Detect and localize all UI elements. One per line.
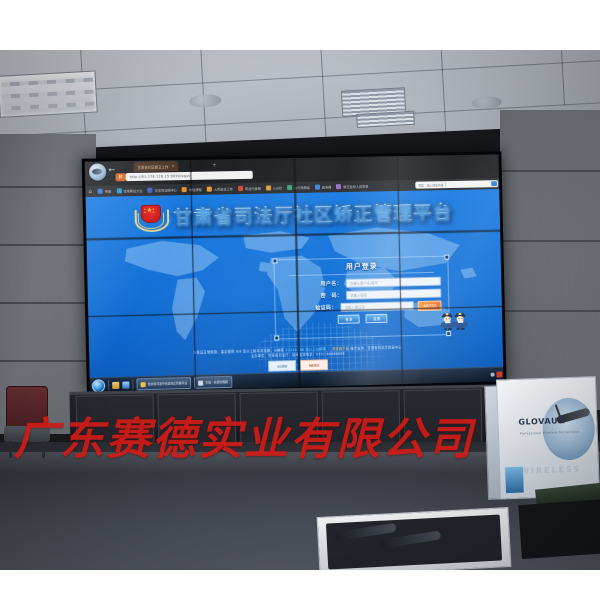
password-placeholder: 请输入密码 (347, 292, 367, 297)
quicklaunch-browser-icon[interactable] (122, 381, 129, 388)
bookmark-item[interactable]: 公示栏 (266, 185, 283, 190)
captcha-field[interactable]: 请输入验证码 (341, 301, 415, 312)
selection-handle[interactable] (275, 335, 280, 340)
bookmark-label: 执行局网站 (294, 185, 310, 189)
password-label: 密 码： (286, 292, 342, 300)
bookmark-label: 常用网址大全 (123, 188, 142, 192)
national-emblem-icon: ★ ★★ ★★ (134, 204, 165, 231)
browser-tab-title: 甘肃省社区矫正工作 (138, 164, 169, 170)
password-row: 密 码： 请输入密码 (286, 288, 442, 301)
folder-icon (198, 380, 203, 385)
login-button-row: 登录 重置 (276, 312, 449, 325)
taskbar-button-label: 甘肃省司法厅社区矫正管理平台 (148, 381, 188, 386)
floor-object-dark (518, 499, 600, 559)
browser-logo-icon (88, 162, 108, 182)
divider (132, 379, 133, 389)
plus-icon[interactable]: + (212, 162, 216, 168)
home-icon[interactable]: ⌂ (88, 188, 91, 194)
bookmark-label: 政务网 (322, 185, 332, 189)
taskbar-button-browser[interactable]: 甘肃省司法厅社区矫正管理平台 (136, 377, 191, 391)
browser-tab[interactable]: 甘肃省社区矫正工作 ✕ (133, 161, 178, 172)
bookmark-item[interactable]: 执行局网站 (287, 185, 310, 190)
search-placeholder: 输入搜索内容 (424, 183, 444, 187)
username-row: 用户名： 请输入用户名/账号 (286, 276, 442, 289)
favicon-icon (238, 186, 243, 191)
tray-notify-icon[interactable] (491, 373, 495, 377)
divider (108, 380, 109, 390)
foam-packing-tray (317, 507, 512, 570)
username-field[interactable]: 请输入用户名/账号 (346, 276, 441, 287)
bookmark-label: 矫正监管人员登录 (343, 184, 368, 188)
bookmark-label: 单位通知 (189, 187, 202, 191)
password-field[interactable]: 请输入密码 (346, 288, 441, 299)
bookmark-label: 甘肃司法网中心 (155, 188, 177, 192)
favicon-icon (98, 189, 103, 194)
bookmark-label: 人民政法工作 (214, 187, 233, 191)
favicon-icon (116, 188, 121, 193)
bookmark-label: 公示栏 (273, 186, 283, 190)
bookmark-item[interactable]: 矫正监管人员登录 (336, 184, 368, 190)
trusted-site-badge[interactable]: 可信网站 (268, 360, 296, 372)
product-photo-strip (504, 466, 525, 495)
wall-right (500, 110, 600, 410)
address-bar-text: http://61.178.116.15:9090/sqjz/ (126, 174, 191, 179)
browser-download-link[interactable]: 浏览器下载 (332, 347, 349, 351)
address-bar[interactable]: http://61.178.116.15:9090/sqjz/ (126, 171, 253, 181)
favicon-icon (266, 185, 271, 190)
bookmark-label: 导航 (105, 189, 111, 193)
quicklaunch-explorer-icon[interactable] (112, 381, 119, 388)
favicon-icon (315, 185, 320, 190)
bookmark-item[interactable]: 司法行政网 (238, 186, 261, 191)
bookmark-item[interactable]: 导航 (98, 188, 112, 193)
captcha-image[interactable]: 4A7E2 (418, 300, 442, 311)
watermark-text: 广东赛德实业有限公司 (14, 418, 494, 462)
favicon-icon (148, 188, 153, 193)
url-go-button[interactable]: 转 (115, 173, 125, 181)
cyber-police-badge[interactable]: 网络警察 (300, 359, 328, 371)
windows-start-orb[interactable] (92, 379, 106, 392)
selection-handle[interactable] (446, 331, 451, 336)
bookmark-item[interactable]: 人民政法工作 (207, 186, 233, 192)
footer-separator: ｜ (327, 348, 331, 352)
captcha-label: 验证码： (286, 304, 337, 312)
bookmark-item[interactable]: 甘肃司法网中心 (148, 187, 177, 193)
bookmark-item[interactable]: 政务网 (315, 184, 332, 189)
back-arrow-icon[interactable]: ← (108, 165, 115, 174)
footer-text-suffix: 技术支持：甘肃省司法厅信息中心 (350, 346, 401, 351)
bookmark-item[interactable]: 单位通知 (182, 187, 202, 192)
divider (445, 182, 446, 187)
username-label: 用户名： (286, 280, 342, 288)
close-icon[interactable]: ✕ (171, 164, 174, 168)
police-mascot-icon (441, 312, 466, 329)
username-placeholder: 请输入用户名/账号 (347, 280, 378, 286)
taskbar-button-explorer[interactable]: 文档 - 资源管理器 (194, 376, 232, 389)
bookmark-item[interactable]: 常用网址大全 (116, 188, 142, 194)
page-title: 甘肃省司法厅社区矫正管理平台 (173, 197, 453, 230)
lcd-video-wall: ← 甘肃省社区矫正工作 ✕ + 转 http://61.178.116.15:9… (82, 151, 507, 395)
system-tray (491, 371, 503, 377)
room-photograph: ← 甘肃省社区矫正工作 ✕ + 转 http://61.178.116.15:9… (0, 50, 600, 570)
product-box: GLOVAUK Professional Wireless Microphone… (484, 376, 598, 500)
product-word: WIRELESS (520, 465, 581, 476)
product-brand: GLOVAUK (518, 416, 565, 427)
taskbar-button-label: 文档 - 资源管理器 (205, 380, 228, 385)
favicon-icon (182, 187, 187, 192)
letterbox-bottom (0, 570, 600, 600)
ceiling-light-fixture (0, 70, 98, 117)
captcha-placeholder: 请输入验证码 (342, 305, 365, 311)
favicon-icon (287, 185, 292, 190)
bookmark-label: 司法行政网 (245, 186, 261, 190)
screenshot-root: ← 甘肃省社区矫正工作 ✕ + 转 http://61.178.116.15:9… (0, 0, 600, 600)
favicon-icon (141, 382, 146, 387)
tray-alert-icon[interactable] (496, 371, 502, 377)
video-wall-screen: ← 甘肃省社区矫正工作 ✕ + 转 http://61.178.116.15:9… (85, 154, 504, 392)
login-button[interactable]: 登录 (338, 314, 360, 324)
search-icon[interactable] (491, 181, 497, 186)
search-engine-label: 百度 (415, 183, 424, 187)
login-panel: 用户登录 用户名： 请输入用户名/账号 密 码： 请输入密码 (274, 255, 451, 339)
favicon-icon (207, 187, 212, 192)
search-input[interactable]: 百度 输入搜索内容 (415, 180, 498, 189)
reset-button[interactable]: 重置 (366, 314, 388, 324)
letterbox-top (0, 0, 600, 50)
favicon-icon (336, 184, 341, 189)
